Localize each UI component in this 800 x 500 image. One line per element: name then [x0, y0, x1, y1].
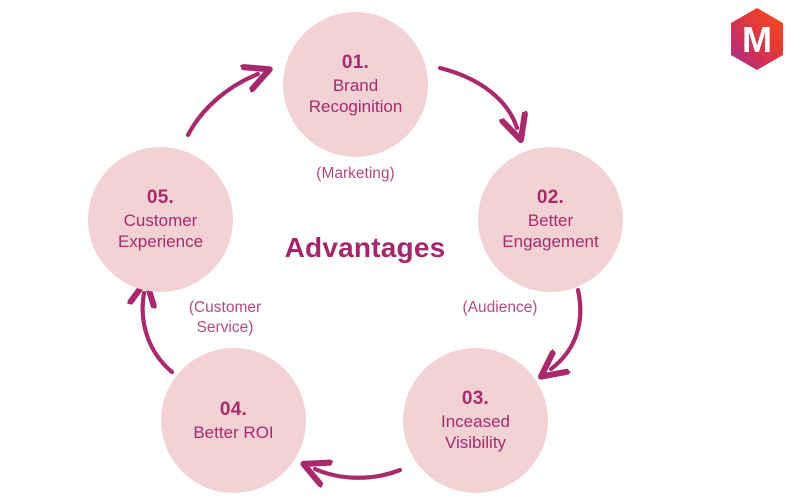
caption-customer-service: (Customer Service) — [165, 298, 285, 338]
cycle-node-05[interactable]: 05. Customer Experience — [88, 147, 233, 292]
cycle-node-05-label: Customer Experience — [112, 211, 209, 252]
cycle-node-05-label-line1: Customer — [118, 211, 203, 232]
cycle-node-03-label-line2: Visibility — [441, 433, 510, 454]
cycle-node-01-label-line1: Brand — [309, 76, 403, 97]
arrow-05-to-01 — [188, 74, 258, 135]
hexagon-logo-icon: M — [726, 6, 788, 72]
cycle-node-01[interactable]: 01. Brand Recoginition — [283, 12, 428, 157]
cycle-node-01-number: 01. — [342, 51, 369, 74]
cycle-node-04-label: Better ROI — [187, 423, 279, 444]
arrow-01-to-02 — [440, 68, 517, 128]
cycle-node-03-label-line1: Inceased — [441, 412, 510, 433]
logo-letter: M — [742, 19, 772, 60]
cycle-node-02[interactable]: 02. Better Engagement — [478, 147, 623, 292]
arrow-03-to-04 — [315, 469, 400, 478]
cycle-node-02-number: 02. — [537, 186, 564, 209]
cycle-node-04-label-line1: Better ROI — [193, 423, 273, 444]
caption-audience: (Audience) — [405, 298, 595, 318]
cycle-node-04[interactable]: 04. Better ROI — [161, 348, 306, 493]
cycle-node-01-label-line2: Recoginition — [309, 97, 403, 118]
cycle-node-02-label-line2: Engagement — [502, 232, 598, 253]
cycle-node-05-number: 05. — [147, 186, 174, 209]
cycle-node-05-label-line2: Experience — [118, 232, 203, 253]
cycle-node-03-label: Inceased Visibility — [435, 412, 516, 453]
cycle-node-03-number: 03. — [462, 387, 489, 410]
cycle-node-03[interactable]: 03. Inceased Visibility — [403, 348, 548, 493]
infographic-canvas: 01. Brand Recoginition 02. Better Engage… — [0, 0, 800, 500]
brand-logo[interactable]: M — [726, 6, 788, 72]
cycle-node-04-number: 04. — [220, 398, 247, 421]
cycle-node-01-label: Brand Recoginition — [303, 76, 409, 117]
caption-marketing: (Marketing) — [258, 164, 453, 184]
cycle-node-02-label-line1: Better — [502, 211, 598, 232]
cycle-node-02-label: Better Engagement — [496, 211, 604, 252]
page-title: Advantages — [250, 232, 480, 264]
